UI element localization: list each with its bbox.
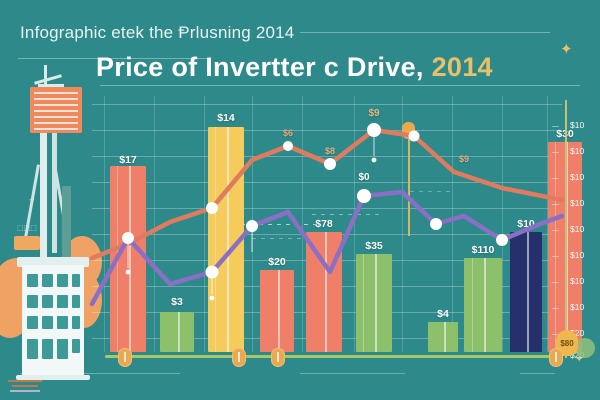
line-end-dot — [372, 158, 377, 163]
footer-rule — [520, 373, 555, 374]
subtitle: Infographic etek the Ᵽrlusning 2014 — [20, 23, 294, 43]
ground-line — [12, 385, 38, 387]
y-tick-label: $10 — [570, 224, 584, 234]
x-axis-line — [105, 355, 557, 358]
line-annotation-2: $8 — [325, 146, 335, 156]
coral-line-markers — [206, 123, 420, 214]
infographic-canvas: Infographic etek the Ᵽrlusning 2014 Pric… — [0, 0, 600, 400]
line-annotation-5: $0 — [358, 172, 369, 183]
tower-shaft — [62, 186, 71, 258]
header-rule-bottom — [100, 85, 580, 86]
title-year-text: 2014 — [432, 52, 493, 82]
y-tick-label: $10 — [570, 276, 584, 286]
equipment-box-icon — [14, 236, 40, 250]
chart-plot-area: $17 $3 $14 $20 $78 $35 $4 $110 $10 $30 — [92, 96, 562, 352]
office-building — [22, 265, 84, 377]
line-end-dot — [210, 296, 215, 301]
x-axis-marker[interactable] — [271, 348, 285, 367]
footer-rule — [20, 373, 180, 374]
y-tick-label: $10 — [570, 120, 584, 130]
solar-panel-icon — [30, 87, 82, 133]
purple-line-series — [92, 192, 562, 304]
header-rule-top — [300, 32, 550, 33]
tower-pole — [52, 133, 57, 253]
page-title: Price of Invertter c Drive, 2014 — [96, 52, 493, 83]
footer-rule — [300, 373, 405, 374]
y-axis-right: $10 $10 $10 $10 $10 $10 $10 $10 $20 $20 — [560, 112, 600, 357]
y-tick-label: $10 — [570, 198, 584, 208]
left-illustration: ⬚⬚⬚ — [0, 60, 100, 380]
title-main-text: Price of Invertter c Drive, — [96, 52, 424, 82]
line-annotation-3: $9 — [368, 108, 379, 119]
decor-blob — [575, 338, 595, 358]
x-axis-marker[interactable] — [232, 348, 246, 367]
equipment-label: ⬚⬚⬚ — [17, 224, 37, 232]
sparkle-icon: ✦ — [560, 42, 573, 57]
purple-line-markers — [122, 189, 508, 279]
line-annotation-1: $6 — [283, 128, 293, 138]
tower-pole — [40, 133, 47, 258]
line-end-dot — [126, 270, 131, 275]
ground-line — [8, 380, 42, 382]
ground-line — [10, 390, 40, 392]
y-tick-label: $10 — [570, 172, 584, 182]
y-tick-label: $10 — [570, 146, 584, 156]
line-annotation-4: $9 — [459, 154, 469, 164]
line-series-layer — [92, 96, 562, 352]
x-axis-marker[interactable] — [549, 348, 563, 367]
x-axis-marker[interactable] — [118, 348, 132, 367]
y-tick-label: $10 — [570, 250, 584, 260]
y-tick-label: $10 — [570, 302, 584, 312]
